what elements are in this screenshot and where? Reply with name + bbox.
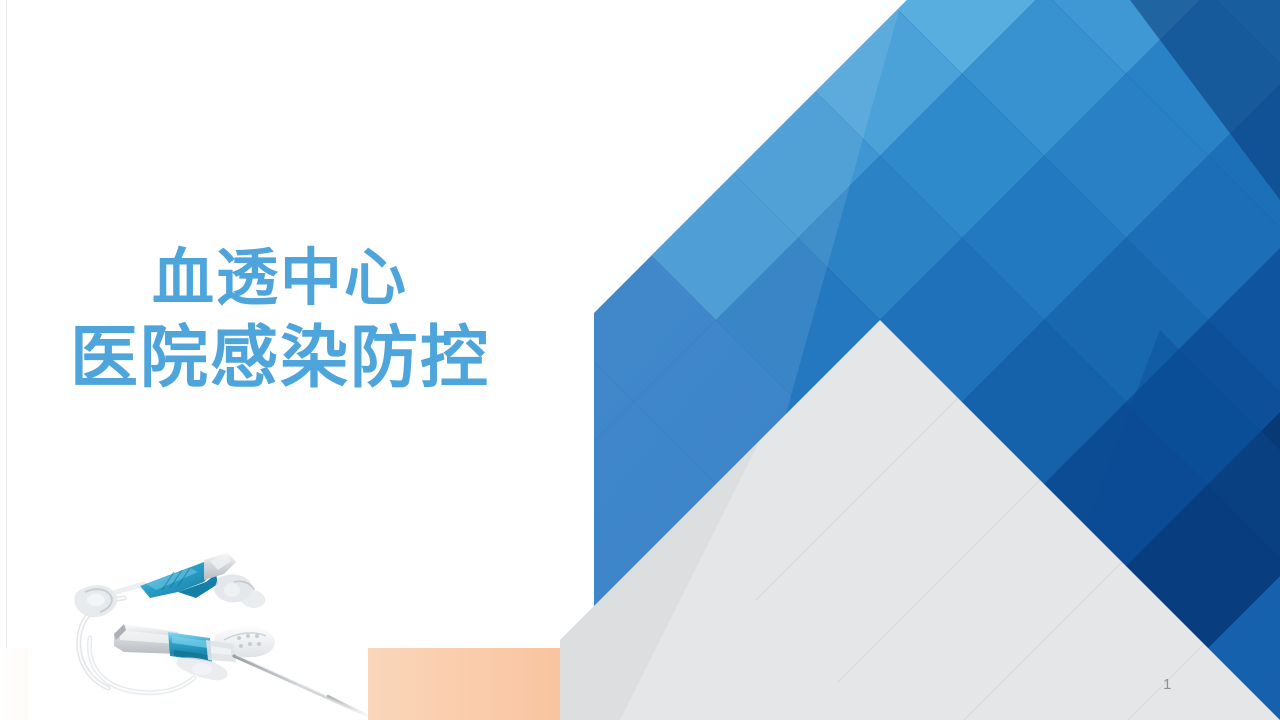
page-number: 1 (1163, 676, 1171, 693)
title-line-2: 医院感染防控 (0, 317, 560, 401)
title-line-1: 血透中心 (0, 240, 560, 317)
slide-title: 血透中心 医院感染防控 (0, 240, 560, 401)
presentation-slide: 血透中心 医院感染防控 1 (0, 0, 1280, 720)
iv-catheter-photo (28, 528, 368, 720)
